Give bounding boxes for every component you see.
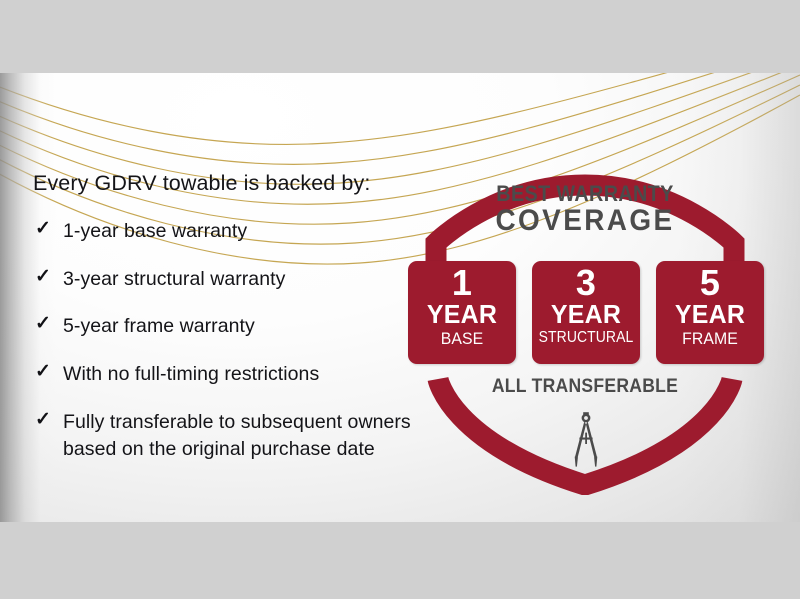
badge-heading: BEST WARRANTY COVERAGE xyxy=(398,183,772,237)
warranty-box-kind: FRAME xyxy=(660,327,760,351)
intro-line: Every GDRV towable is backed by: xyxy=(33,171,433,196)
badge-footer-label: ALL TRANSFERABLE xyxy=(417,375,754,398)
warranty-box-number: 1 xyxy=(408,265,516,302)
warranty-box-base[interactable]: 1 YEAR BASE xyxy=(408,261,516,364)
check-mark-icon: ✓ xyxy=(35,311,51,338)
warranty-box-structural[interactable]: 3 YEAR STRUCTURAL xyxy=(532,261,640,364)
warranty-bullet-list: ✓ 1-year base warranty ✓ 3-year structur… xyxy=(33,218,433,464)
list-item-label: Fully transferable to subsequent owners … xyxy=(63,411,411,461)
warranty-shield-badge: BEST WARRANTY COVERAGE 1 YEAR BASE 3 YEA… xyxy=(398,155,772,495)
warranty-box-kind: STRUCTURAL xyxy=(537,327,634,349)
letterbox-bottom xyxy=(0,522,800,599)
warranty-box-frame[interactable]: 5 YEAR FRAME xyxy=(656,261,764,364)
list-item-label: With no full-timing restrictions xyxy=(63,363,319,385)
warranty-box-number: 3 xyxy=(532,265,640,302)
drafting-compass-icon xyxy=(568,410,604,468)
list-item-label: 1-year base warranty xyxy=(63,220,247,242)
badge-heading-line1: BEST WARRANTY xyxy=(417,183,754,205)
slide-stage: Every GDRV towable is backed by: ✓ 1-yea… xyxy=(0,0,800,599)
list-item-label: 3-year structural warranty xyxy=(63,268,285,290)
list-item: ✓ 3-year structural warranty xyxy=(33,266,433,294)
letterbox-top xyxy=(0,0,800,73)
warranty-box-unit: YEAR xyxy=(410,302,514,327)
warranty-box-unit: YEAR xyxy=(534,302,638,327)
check-mark-icon: ✓ xyxy=(35,264,51,291)
warranty-box-kind: BASE xyxy=(412,327,512,351)
list-item-label: 5-year frame warranty xyxy=(63,315,255,337)
list-item: ✓ 5-year frame warranty xyxy=(33,313,433,341)
warranty-copy-block: Every GDRV towable is backed by: ✓ 1-yea… xyxy=(33,171,433,484)
badge-heading-line2: COVERAGE xyxy=(411,205,759,237)
list-item: ✓ 1-year base warranty xyxy=(33,218,433,246)
check-mark-icon: ✓ xyxy=(35,407,51,434)
check-mark-icon: ✓ xyxy=(35,359,51,386)
check-mark-icon: ✓ xyxy=(35,216,51,243)
warranty-box-number: 5 xyxy=(656,265,764,302)
list-item: ✓ Fully transferable to subsequent owner… xyxy=(33,409,433,464)
warranty-term-boxes: 1 YEAR BASE 3 YEAR STRUCTURAL 5 YEAR FRA… xyxy=(408,261,764,364)
warranty-box-unit: YEAR xyxy=(658,302,762,327)
list-item: ✓ With no full-timing restrictions xyxy=(33,361,433,389)
slide-canvas: Every GDRV towable is backed by: ✓ 1-yea… xyxy=(0,73,800,522)
